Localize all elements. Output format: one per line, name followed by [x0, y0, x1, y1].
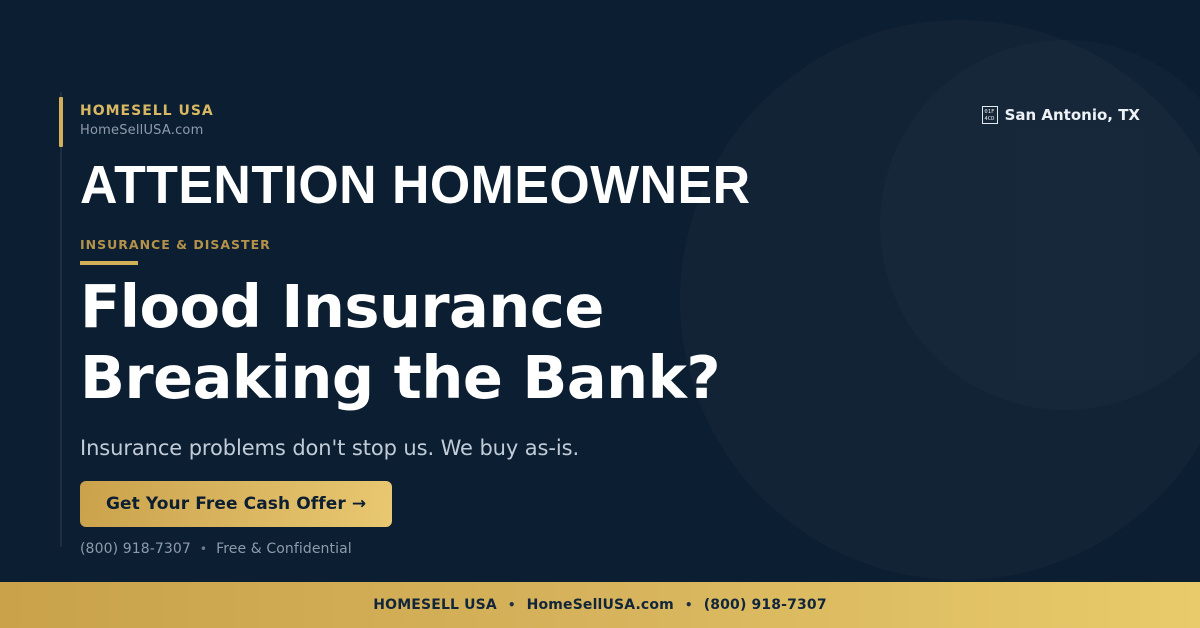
- map-pin-icon-codepoint-bottom: 4CD: [985, 115, 995, 121]
- map-pin-icon-codepoint-top: 01F: [985, 108, 995, 114]
- contact-note: Free & Confidential: [216, 541, 352, 557]
- category-eyebrow: INSURANCE & DISASTER: [80, 238, 271, 252]
- promo-banner: HOMESELL USA HomeSellUSA.com 01F 4CD San…: [0, 0, 1200, 628]
- eyebrow-divider: [80, 261, 138, 265]
- page-title: Flood Insurance Breaking the Bank?: [80, 272, 720, 414]
- left-rail-gold-accent: [59, 97, 63, 147]
- footer-separator-1-icon: •: [508, 598, 516, 612]
- get-free-cash-offer-button[interactable]: Get Your Free Cash Offer →: [80, 481, 392, 527]
- location-badge: 01F 4CD San Antonio, TX: [982, 106, 1140, 124]
- footer-phone[interactable]: (800) 918-7307: [704, 597, 827, 613]
- location-label: San Antonio, TX: [1005, 106, 1140, 124]
- brand-row: HOMESELL USA HomeSellUSA.com 01F 4CD San…: [80, 104, 1140, 139]
- left-rail-line: [60, 92, 62, 547]
- brand-block: HOMESELL USA HomeSellUSA.com: [80, 104, 214, 139]
- footer-content: HOMESELL USA • HomeSellUSA.com • (800) 9…: [373, 597, 826, 613]
- footer-website[interactable]: HomeSellUSA.com: [527, 597, 674, 613]
- contact-phone[interactable]: (800) 918-7307: [80, 541, 191, 557]
- brand-website[interactable]: HomeSellUSA.com: [80, 123, 214, 139]
- footer-bar: HOMESELL USA • HomeSellUSA.com • (800) 9…: [0, 582, 1200, 628]
- footer-separator-2-icon: •: [685, 598, 693, 612]
- contact-line: (800) 918-7307 • Free & Confidential: [80, 541, 352, 557]
- headline-line-2: Breaking the Bank?: [80, 343, 720, 414]
- banner-content: HOMESELL USA HomeSellUSA.com 01F 4CD San…: [80, 0, 1180, 582]
- attention-heading: ATTENTION HOMEOWNER: [80, 158, 751, 212]
- footer-brand: HOMESELL USA: [373, 597, 497, 613]
- brand-name: HOMESELL USA: [80, 104, 214, 119]
- subheadline: Insurance problems don't stop us. We buy…: [80, 435, 579, 462]
- headline-line-1: Flood Insurance: [80, 272, 720, 343]
- map-pin-icon: 01F 4CD: [982, 106, 998, 124]
- contact-separator-icon: •: [200, 542, 207, 556]
